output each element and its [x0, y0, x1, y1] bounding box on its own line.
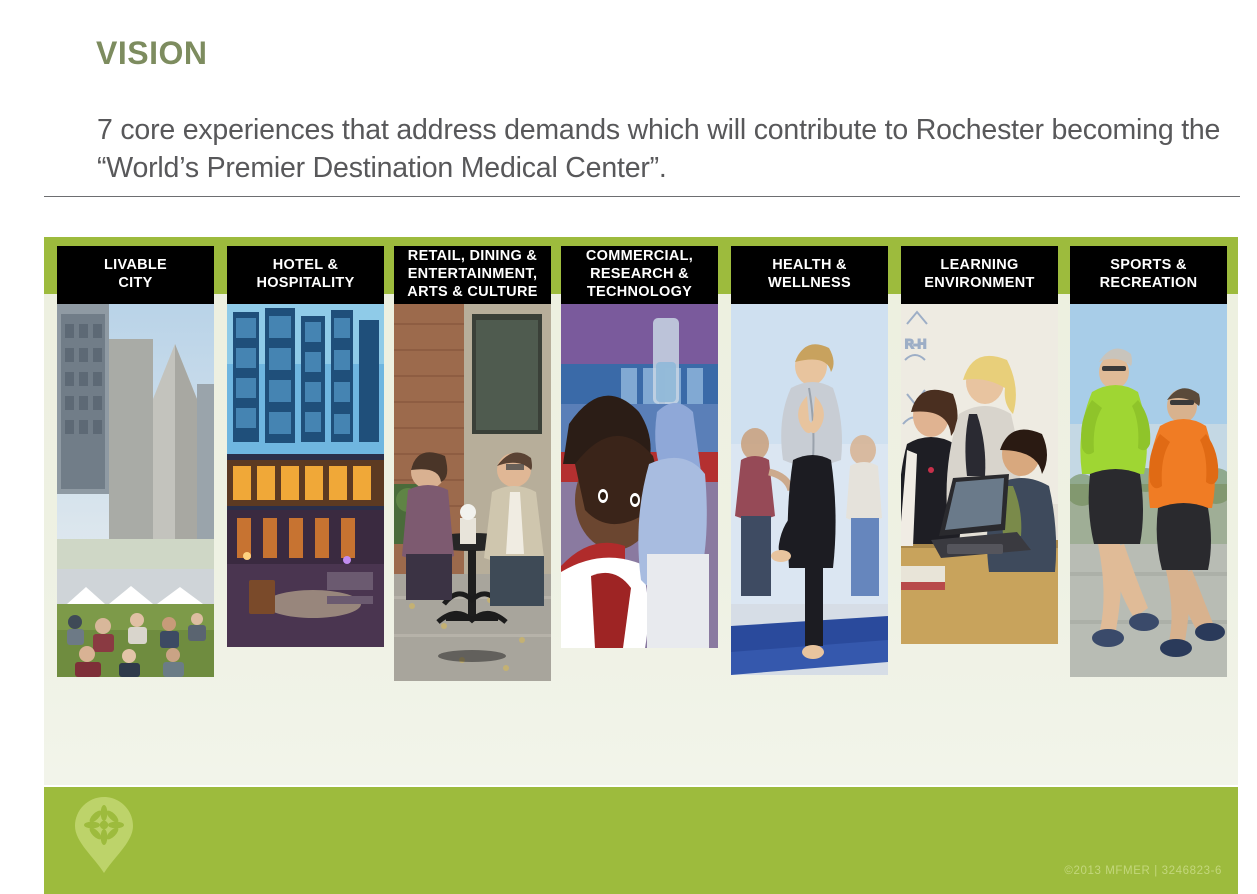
category-panel-hotel-hospitality[interactable]: HOTEL & HOSPITALITY — [227, 246, 384, 647]
sidewalk-cafe-photo — [394, 304, 551, 681]
category-label-line-3: TECHNOLOGY — [587, 284, 692, 300]
category-panel-commercial-research-technology[interactable]: COMMERCIAL, RESEARCH & TECHNOLOGY — [561, 246, 718, 648]
category-label-line-2: HOSPITALITY — [256, 275, 354, 291]
map-pin-flower-icon — [72, 795, 136, 875]
category-label-line-2: CITY — [118, 275, 152, 291]
category-label-line-2: WELLNESS — [768, 275, 851, 291]
category-label-line-2: RESEARCH & — [590, 266, 689, 282]
category-panel-health-wellness[interactable]: HEALTH & WELLNESS — [731, 246, 888, 675]
category-header: RETAIL, DINING & ENTERTAINMENT, ARTS & C… — [394, 246, 551, 304]
category-panel-livable-city[interactable]: LIVABLE CITY — [57, 246, 214, 677]
category-label-line-1: HOTEL & — [273, 257, 338, 273]
page-subtitle: 7 core experiences that address demands … — [97, 112, 1227, 187]
svg-text:R-H: R-H — [905, 337, 926, 351]
category-header: HOTEL & HOSPITALITY — [227, 246, 384, 304]
category-header: HEALTH & WELLNESS — [731, 246, 888, 304]
category-label-line-2: RECREATION — [1100, 275, 1198, 291]
copyright-text: ©2013 MFMER | 3246823-6 — [1064, 865, 1222, 877]
category-header: COMMERCIAL, RESEARCH & TECHNOLOGY — [561, 246, 718, 304]
page-title: VISION — [96, 36, 207, 71]
category-header: LIVABLE CITY — [57, 246, 214, 304]
hotel-exterior-photo — [227, 304, 384, 647]
category-label-line-1: HEALTH & — [772, 257, 847, 273]
category-photo — [561, 304, 718, 648]
category-panel-retail-dining-entertainment[interactable]: RETAIL, DINING & ENTERTAINMENT, ARTS & C… — [394, 246, 551, 681]
category-photo — [57, 304, 214, 677]
outdoor-yoga-photo — [731, 304, 888, 675]
category-header: LEARNING ENVIRONMENT — [901, 246, 1058, 304]
category-photo — [394, 304, 551, 681]
category-label-line-1: RETAIL, DINING & — [408, 248, 537, 264]
category-photo — [1070, 304, 1227, 677]
categories-band: LIVABLE CITY — [44, 237, 1238, 785]
category-label-line-2: ENVIRONMENT — [924, 275, 1034, 291]
category-label-line-2: ENTERTAINMENT, — [408, 266, 538, 282]
city-plaza-photo — [57, 304, 214, 677]
title-divider — [44, 196, 1240, 197]
category-label-line-1: SPORTS & — [1110, 257, 1187, 273]
category-photo — [227, 304, 384, 647]
category-label-line-3: ARTS & CULTURE — [407, 284, 537, 300]
lab-researcher-photo — [561, 304, 718, 648]
category-label-line-1: LIVABLE — [104, 257, 167, 273]
destination-medical-center-pin-logo — [72, 795, 136, 875]
footer-band: ©2013 MFMER | 3246823-6 — [44, 787, 1238, 894]
joggers-photo — [1070, 304, 1227, 677]
category-photo — [731, 304, 888, 675]
category-panel-learning-environment[interactable]: LEARNING ENVIRONMENT R-H — [901, 246, 1058, 644]
students-laptop-photo: R-H — [901, 304, 1058, 644]
category-panel-sports-recreation[interactable]: SPORTS & RECREATION — [1070, 246, 1227, 677]
category-photo: R-H — [901, 304, 1058, 644]
category-label-line-1: LEARNING — [940, 257, 1018, 273]
category-label-line-1: COMMERCIAL, — [586, 248, 693, 264]
category-header: SPORTS & RECREATION — [1070, 246, 1227, 304]
